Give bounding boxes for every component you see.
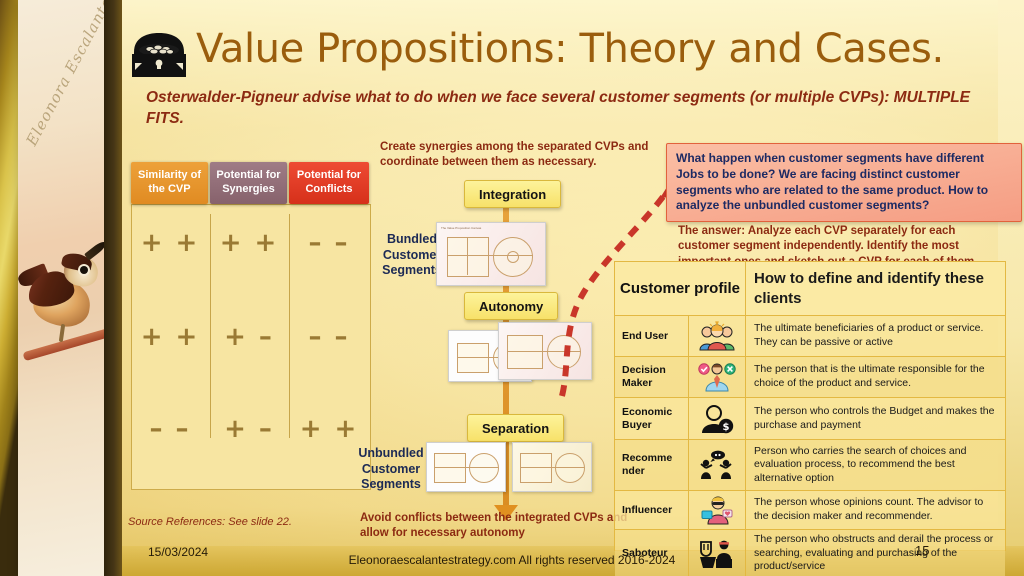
influencer-with-phone-icon bbox=[689, 491, 746, 529]
cvp-comparison-matrix: Similarity of the CVP Potential for Syne… bbox=[131, 162, 371, 490]
matrix-cell-1-1: + – bbox=[210, 322, 288, 352]
label-unbundled-customer-segments: Unbundled Customer Segments bbox=[352, 446, 430, 493]
question-callout-box: What happen when customer segments have … bbox=[666, 143, 1022, 222]
customer-profile-table: Customer profile How to define and ident… bbox=[614, 261, 1006, 551]
approve-reject-person-icon bbox=[689, 357, 746, 397]
svg-text:$: $ bbox=[723, 422, 730, 433]
page-title: Value Propositions: Theory and Cases. bbox=[196, 26, 944, 72]
source-references: Source References: See slide 22. bbox=[128, 516, 292, 528]
matrix-cell-0-1: + + bbox=[210, 228, 288, 258]
cvp-customer-circle bbox=[469, 453, 499, 483]
cvp-canvas-thumbnail-integration: The Value Proposition Canvas bbox=[436, 222, 546, 286]
cvp-circle-center bbox=[507, 251, 519, 263]
profile-desc-end-user: The ultimate beneficiaries of a product … bbox=[746, 316, 1005, 356]
left-decorative-panel: Eleonora Escalante bbox=[0, 0, 122, 576]
profile-name-influencer: Influencer bbox=[615, 491, 689, 529]
matrix-header-conflicts: Potential for Conflicts bbox=[289, 162, 369, 204]
cvp-canvas-thumbnail-separation-b bbox=[512, 442, 592, 492]
cvp-connector-line bbox=[447, 255, 533, 256]
profile-name-recommender: Recomme nder bbox=[615, 440, 689, 490]
cvp-connector-line bbox=[520, 467, 584, 468]
author-signature: Eleonora Escalante bbox=[23, 25, 100, 148]
matrix-cell-2-2: + + bbox=[289, 414, 369, 444]
person-with-money-icon: $ bbox=[689, 398, 746, 439]
matrix-cell-0-0: + + bbox=[131, 228, 209, 258]
profile-desc-recommender: Person who carries the search of choices… bbox=[746, 440, 1005, 490]
profile-desc-influencer: The person whose opinions count. The adv… bbox=[746, 491, 1005, 529]
table-row: Influencer The person whose opinions cou… bbox=[615, 491, 1005, 530]
table-row: Decision Maker The person that is the ul… bbox=[615, 357, 1005, 398]
flow-caption-bottom: Avoid conflicts between the integrated C… bbox=[360, 511, 640, 541]
copyright-notice: Eleonoraescalantestrategy.com All rights… bbox=[0, 553, 1024, 567]
cvp-canvas-caption: The Value Proposition Canvas bbox=[441, 226, 481, 230]
flow-step-autonomy[interactable]: Autonomy bbox=[464, 292, 558, 320]
table-header-row: Customer profile How to define and ident… bbox=[615, 262, 1005, 316]
treasure-chest-icon bbox=[126, 30, 192, 80]
two-people-talking-icon bbox=[689, 440, 746, 490]
table-header-customer-profile: Customer profile bbox=[615, 262, 746, 315]
cvp-value-map-square bbox=[507, 335, 543, 369]
profile-name-economic-buyer: Economic Buyer bbox=[615, 398, 689, 439]
profile-name-end-user: End User bbox=[615, 316, 689, 356]
matrix-header-similarity: Similarity of the CVP bbox=[131, 162, 208, 204]
left-watercolor-card: Eleonora Escalante bbox=[18, 0, 104, 576]
page-number: 15 bbox=[915, 543, 929, 558]
profile-desc-economic-buyer: The person who controls the Budget and m… bbox=[746, 398, 1005, 439]
cvp-value-map-square bbox=[520, 453, 552, 483]
cvp-value-map-square bbox=[447, 237, 489, 277]
matrix-header-synergies: Potential for Synergies bbox=[210, 162, 287, 204]
cvp-value-map-square bbox=[434, 453, 466, 483]
family-group-icon bbox=[689, 316, 746, 356]
cvp-square-divider bbox=[467, 237, 468, 275]
table-row: End User The ultimate beneficiaries of a… bbox=[615, 316, 1005, 357]
matrix-cell-0-2: – – bbox=[289, 228, 369, 258]
slide-canvas: Eleonora Escalante bbox=[0, 0, 1024, 576]
wren-bird-illustration bbox=[26, 228, 104, 378]
profile-desc-decision-maker: The person that is the ultimate responsi… bbox=[746, 357, 1005, 397]
cvp-customer-circle bbox=[555, 453, 585, 483]
page-subtitle: Osterwalder-Pigneur advise what to do wh… bbox=[146, 88, 998, 130]
matrix-cell-1-2: – – bbox=[289, 322, 369, 352]
table-header-how-to-define: How to define and identify these clients bbox=[746, 262, 1005, 315]
bird-eye bbox=[80, 266, 88, 274]
matrix-cell-2-0: – – bbox=[131, 414, 209, 444]
table-row: Recomme nder Person who carries the sear… bbox=[615, 440, 1005, 491]
table-row: Economic Buyer $ The person who controls… bbox=[615, 398, 1005, 440]
cvp-connector-line bbox=[434, 467, 498, 468]
matrix-cell-1-0: + + bbox=[131, 322, 209, 352]
left-dark-edge bbox=[104, 0, 122, 576]
profile-name-decision-maker: Decision Maker bbox=[615, 357, 689, 397]
cvp-canvas-thumbnail-separation-a bbox=[426, 442, 506, 492]
flow-step-separation[interactable]: Separation bbox=[467, 414, 564, 442]
flow-step-integration[interactable]: Integration bbox=[464, 180, 561, 208]
cvp-value-map-square bbox=[457, 343, 489, 373]
bird-beak bbox=[84, 239, 104, 260]
matrix-cell-2-1: + – bbox=[210, 414, 288, 444]
flow-caption-top: Create synergies among the separated CVP… bbox=[380, 140, 650, 170]
